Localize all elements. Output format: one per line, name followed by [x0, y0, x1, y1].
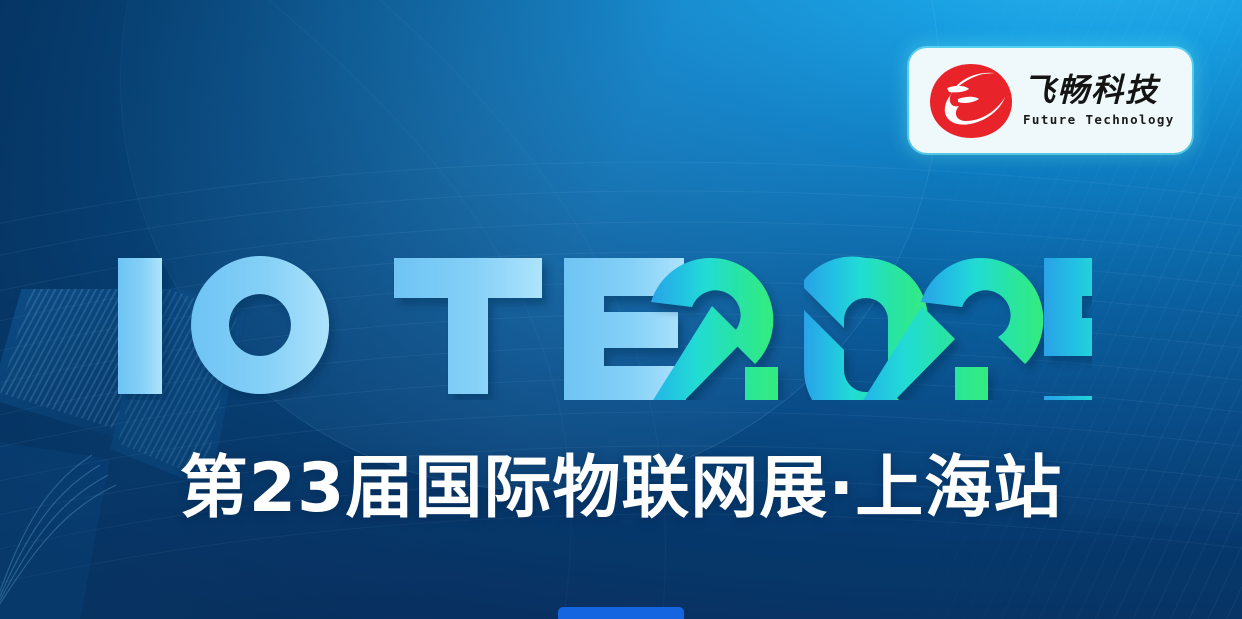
iote-2025-banner: 第23届国际物联网展·上海站 飞畅科技 Future Technology — [0, 0, 1242, 619]
sponsor-logo-text: 飞畅科技 Future Technology — [1023, 74, 1175, 128]
iote-2025-wordmark — [112, 248, 1092, 400]
bottom-accent-chip — [558, 607, 684, 619]
event-subtitle: 第23届国际物联网展·上海站 — [0, 455, 1242, 523]
feichang-emblem-icon — [925, 61, 1017, 141]
company-name-cn: 飞畅科技 — [1023, 74, 1175, 108]
sponsor-logo-badge[interactable]: 飞畅科技 Future Technology — [909, 48, 1192, 153]
company-name-en: Future Technology — [1023, 112, 1175, 127]
